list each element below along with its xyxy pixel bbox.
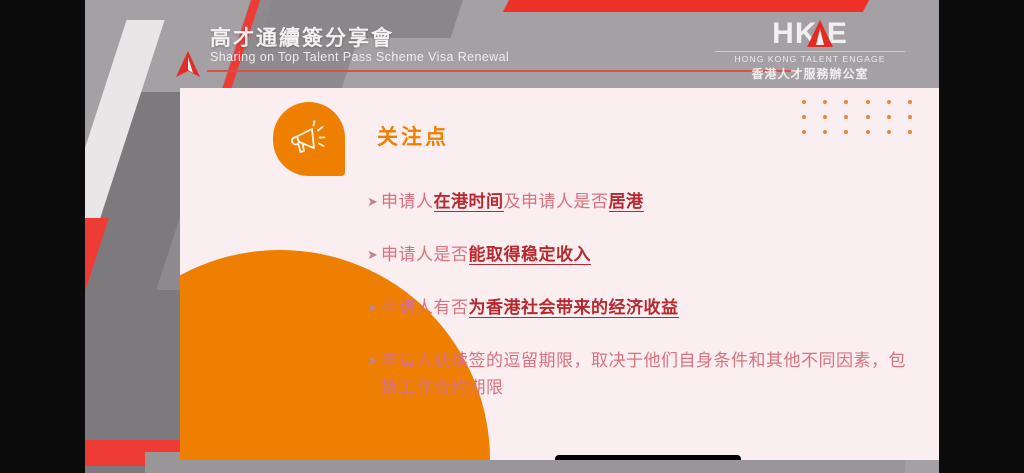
decorative-dot <box>866 130 870 134</box>
list-item: ➤申请人在港时间及申请人是否居港 <box>368 188 908 215</box>
decorative-dot <box>823 115 827 119</box>
decorative-dot <box>844 130 848 134</box>
logo-wordmark: HK E <box>715 18 905 50</box>
decorative-dot <box>823 130 827 134</box>
bullet-marker: ➤ <box>367 188 378 215</box>
logo-chinese-name: 香港人才服務辦公室 <box>715 65 905 82</box>
list-item: ➤申请人有否为香港社会带来的经济收益 <box>368 294 908 321</box>
bullet-emphasis: 在港时间 <box>434 192 504 212</box>
decorative-dot <box>823 100 827 104</box>
decorative-dot <box>866 115 870 119</box>
bullet-text-1: 申请人在港时间及申请人是否居港 <box>381 192 644 212</box>
megaphone-badge <box>273 102 345 176</box>
decorative-dot <box>802 100 806 104</box>
list-item: ➤申请人获续签的逗留期限，取决于他们自身条件和其他不同因素，包括工作合约期限 <box>368 347 908 401</box>
bullet-list: ➤申请人在港时间及申请人是否居港 ➤申请人是否能取得稳定收入 ➤申请人有否为香港… <box>368 188 908 401</box>
bullet-plain: 申请人有否 <box>381 298 469 317</box>
bullet-emphasis: 为香港社会带来的经济收益 <box>469 298 679 318</box>
bullet-text-4: 申请人获续签的逗留期限，取决于他们自身条件和其他不同因素，包括工作合约期限 <box>381 351 906 397</box>
red-arrow-mark-icon <box>175 50 201 78</box>
page-title: 高才通續簽分享會 <box>210 22 394 52</box>
bullet-plain: 申请人是否 <box>381 245 469 264</box>
list-item: ➤申请人是否能取得稳定收入 <box>368 241 908 268</box>
decorative-dot <box>887 100 891 104</box>
decorative-dot <box>866 100 870 104</box>
slide-header: 高才通續簽分享會 Sharing on Top Talent Pass Sche… <box>85 0 939 88</box>
decorative-dot <box>844 100 848 104</box>
bullet-emphasis: 居港 <box>609 192 644 212</box>
hkte-logo: HK E HONG KONG TALENT ENGAGE 香港人才服務辦公室 <box>715 18 905 82</box>
red-triangle-icon <box>807 20 833 47</box>
decorative-dot <box>844 115 848 119</box>
decorative-dot <box>802 130 806 134</box>
video-progress-bar[interactable] <box>555 455 741 460</box>
decorative-dot <box>908 100 912 104</box>
bullet-plain: 及申请人是否 <box>504 192 609 211</box>
presentation-slide: 高才通續簽分享會 Sharing on Top Talent Pass Sche… <box>85 0 939 473</box>
card-heading: 关注点 <box>377 121 449 151</box>
bullet-marker: ➤ <box>367 347 378 374</box>
bullet-text-2: 申请人是否能取得稳定收入 <box>381 245 591 265</box>
bullet-marker: ➤ <box>367 294 378 321</box>
content-card: 关注点 ➤申请人在港时间及申请人是否居港 ➤申请人是否能取得稳定收入 ➤申请人有… <box>180 88 939 460</box>
screenshot-stage: 高才通續簽分享會 Sharing on Top Talent Pass Sche… <box>0 0 1024 473</box>
bullet-plain: 申请人 <box>381 192 434 211</box>
page-subtitle: Sharing on Top Talent Pass Scheme Visa R… <box>210 50 509 64</box>
header-divider <box>207 70 797 72</box>
decorative-dot <box>887 115 891 119</box>
bullet-emphasis: 能取得稳定收入 <box>469 245 592 265</box>
decorative-dot <box>908 115 912 119</box>
dot-grid-decoration <box>802 100 918 134</box>
bullet-text-3: 申请人有否为香港社会带来的经济收益 <box>381 298 679 318</box>
bullet-plain: 申请人获续签的逗留期限，取决于他们自身条件和其他不同因素，包括工作合约期限 <box>381 351 906 397</box>
decorative-dot <box>887 130 891 134</box>
bullet-marker: ➤ <box>367 241 378 268</box>
decorative-dot <box>802 115 806 119</box>
megaphone-icon <box>288 119 330 159</box>
logo-english-name: HONG KONG TALENT ENGAGE <box>715 51 905 64</box>
decorative-dot <box>908 130 912 134</box>
